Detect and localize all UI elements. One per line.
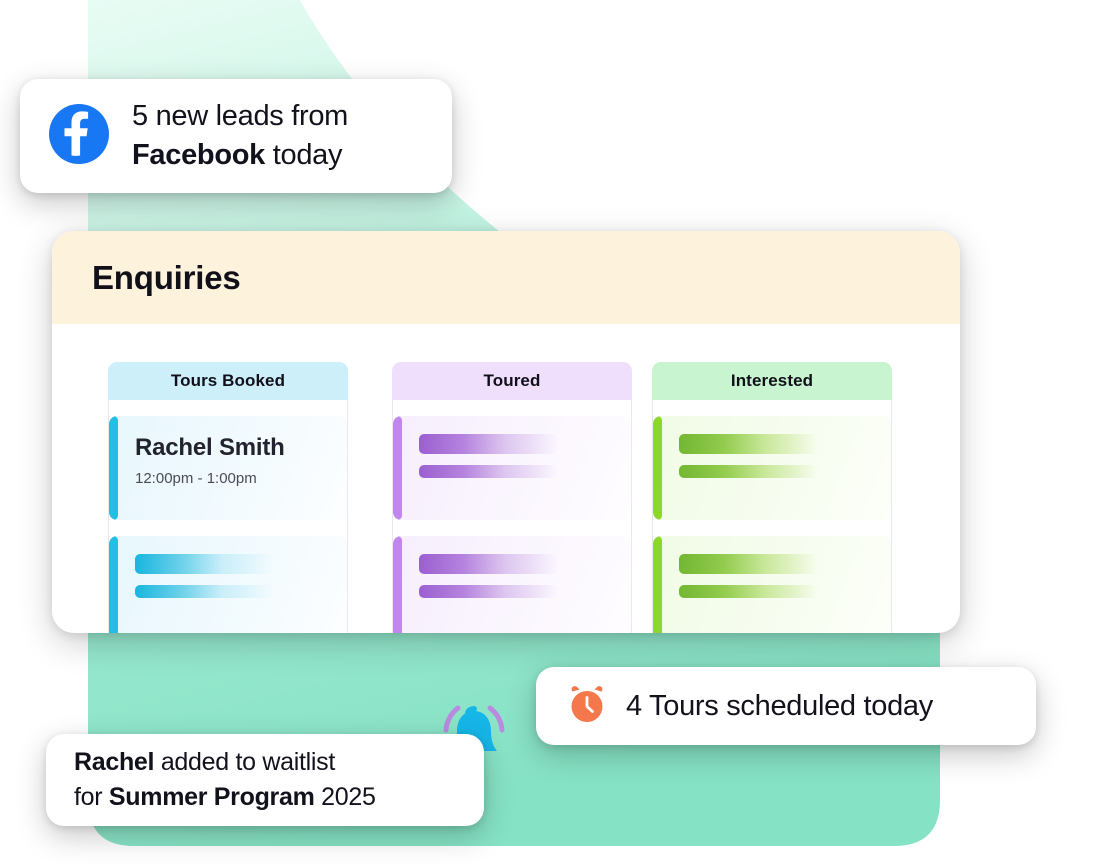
- placeholder-bar: [679, 465, 818, 478]
- task-card-placeholder[interactable]: [109, 536, 347, 633]
- notification-waitlist-text: Rachel added to waitlist for Summer Prog…: [74, 745, 376, 815]
- waitlist-action: added to waitlist: [154, 748, 335, 776]
- column-header-interested[interactable]: Interested: [652, 362, 892, 400]
- column-header-toured[interactable]: Toured: [392, 362, 632, 400]
- facebook-line-1: 5 new leads from: [132, 100, 348, 132]
- placeholder-bar: [679, 554, 818, 574]
- placeholder-bar: [419, 585, 558, 598]
- facebook-icon: [48, 103, 110, 170]
- task-card-placeholder[interactable]: [393, 416, 631, 520]
- task-card-placeholder[interactable]: [653, 536, 891, 633]
- task-card-placeholder[interactable]: [393, 536, 631, 633]
- enquiries-panel: Enquiries Tours Booked Rachel Smith 12:0…: [52, 231, 960, 633]
- enquiries-panel-header: Enquiries: [52, 231, 960, 324]
- waitlist-program: Summer Program: [109, 783, 315, 811]
- notification-waitlist[interactable]: Rachel added to waitlist for Summer Prog…: [46, 734, 484, 826]
- waitlist-year: 2025: [315, 783, 376, 811]
- facebook-line-2-suffix: today: [265, 139, 342, 171]
- notification-tours-scheduled[interactable]: 4 Tours scheduled today: [536, 667, 1036, 745]
- screenshot-root: Enquiries Tours Booked Rachel Smith 12:0…: [0, 0, 1102, 868]
- task-card[interactable]: Rachel Smith 12:00pm - 1:00pm: [109, 416, 347, 520]
- alarm-clock-icon: [566, 683, 608, 730]
- placeholder-bar: [679, 434, 818, 454]
- kanban-column-toured: Toured: [392, 362, 632, 633]
- placeholder-bar: [419, 434, 558, 454]
- notification-tours-text: 4 Tours scheduled today: [626, 690, 933, 723]
- column-body-interested: [652, 400, 892, 633]
- placeholder-bar: [135, 585, 274, 598]
- waitlist-for: for: [74, 783, 109, 811]
- facebook-brand: Facebook: [132, 139, 265, 171]
- task-card-time: 12:00pm - 1:00pm: [135, 470, 331, 487]
- kanban-column-interested: Interested: [652, 362, 892, 633]
- placeholder-bar: [135, 554, 274, 574]
- task-card-placeholder[interactable]: [653, 416, 891, 520]
- page-title: Enquiries: [92, 259, 241, 297]
- placeholder-bar: [419, 465, 558, 478]
- column-body-tours-booked: Rachel Smith 12:00pm - 1:00pm: [108, 400, 348, 633]
- kanban-board: Tours Booked Rachel Smith 12:00pm - 1:00…: [52, 324, 960, 633]
- kanban-column-tours-booked: Tours Booked Rachel Smith 12:00pm - 1:00…: [108, 362, 348, 633]
- placeholder-bar: [419, 554, 558, 574]
- notification-facebook-leads[interactable]: 5 new leads from Facebook today: [20, 79, 452, 193]
- task-card-name: Rachel Smith: [135, 434, 331, 462]
- notification-facebook-text: 5 new leads from Facebook today: [132, 97, 348, 174]
- waitlist-person: Rachel: [74, 748, 154, 776]
- column-body-toured: [392, 400, 632, 633]
- column-header-tours-booked[interactable]: Tours Booked: [108, 362, 348, 400]
- placeholder-bar: [679, 585, 818, 598]
